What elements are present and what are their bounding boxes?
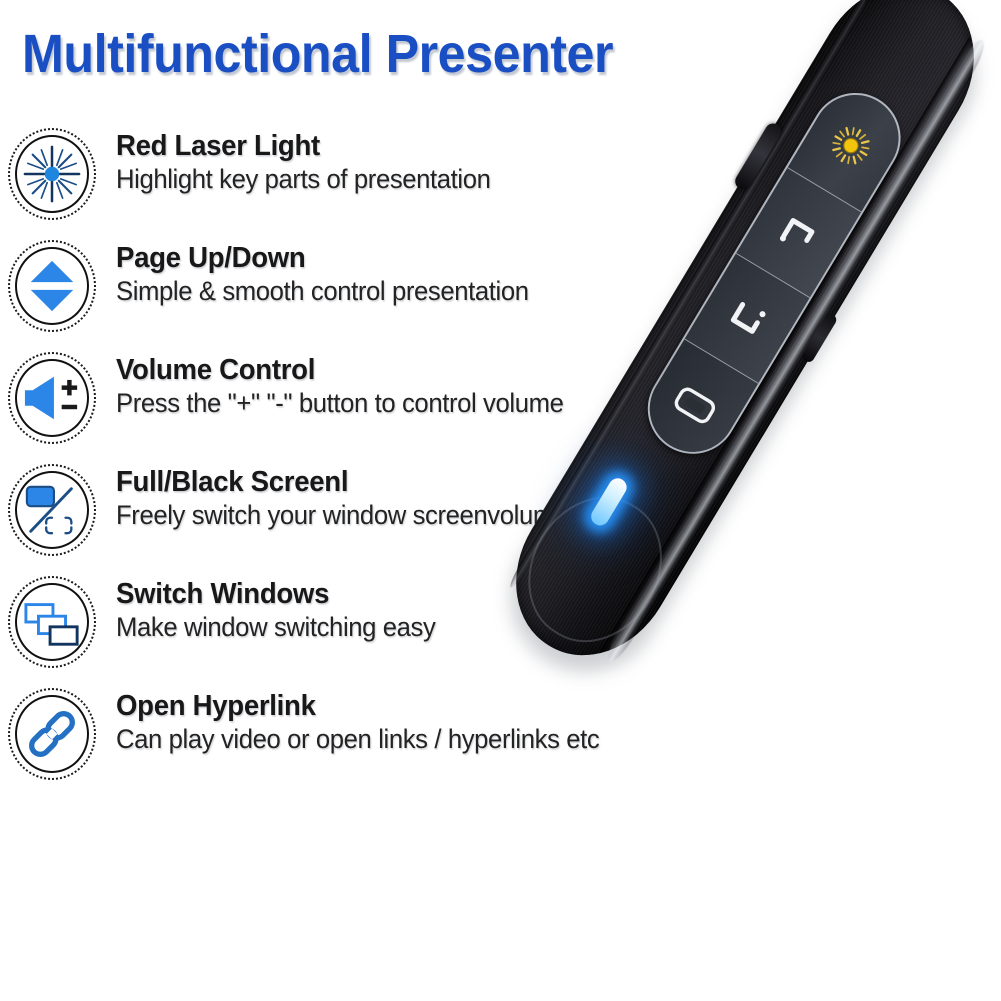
device-button-laser[interactable]	[787, 79, 914, 212]
device-button-page-down[interactable]	[684, 254, 809, 384]
feature-description: Highlight key parts of presentation	[116, 163, 652, 196]
device-side-clip	[732, 121, 784, 193]
speaker-volume-icon	[6, 350, 102, 446]
hyperlink-chain-icon	[6, 686, 102, 782]
feature-title: Red Laser Light	[116, 130, 652, 162]
page-title: Multifunctional Presenter	[22, 27, 613, 81]
feature-text-block: Red Laser Light Highlight key parts of p…	[102, 126, 680, 196]
device-side-notch	[800, 312, 838, 364]
feature-text-block: Switch Windows Make window switching eas…	[102, 574, 680, 644]
feature-description: Simple & smooth control presentation	[116, 275, 652, 308]
device-button-page-up[interactable]	[736, 168, 861, 298]
switch-windows-icon	[6, 574, 102, 670]
feature-title: Full/Black Screenl	[116, 466, 652, 498]
feature-item-volume-control: Volume Control Press the "+" "-" button …	[0, 350, 680, 446]
sun-laser-icon	[825, 119, 877, 171]
chain-link-glyph	[23, 705, 81, 763]
up-down-triangles-glyph	[23, 257, 81, 315]
feature-text-block: Open Hyperlink Can play video or open li…	[102, 686, 680, 756]
feature-item-switch-windows: Switch Windows Make window switching eas…	[0, 574, 680, 670]
feature-description: Freely switch your window screenvolume	[116, 499, 652, 532]
page-up-down-arrows-icon	[6, 238, 102, 334]
laser-starburst-icon	[6, 126, 102, 222]
feature-item-full-black-screen: Full/Black Screenl Freely switch your wi…	[0, 462, 680, 558]
feature-description: Make window switching easy	[116, 611, 652, 644]
cascading-windows-glyph	[23, 593, 81, 651]
feature-description: Press the "+" "-" button to control volu…	[116, 387, 652, 420]
feature-title: Open Hyperlink	[116, 690, 652, 722]
feature-description: Can play video or open links / hyperlink…	[116, 723, 652, 756]
speaker-plus-minus-glyph	[23, 369, 81, 427]
laser-starburst-glyph	[23, 145, 81, 203]
feature-item-red-laser-light: Red Laser Light Highlight key parts of p…	[0, 126, 680, 222]
full-black-screen-icon	[6, 462, 102, 558]
feature-title: Page Up/Down	[116, 242, 652, 274]
feature-text-block: Page Up/Down Simple & smooth control pre…	[102, 238, 680, 308]
feature-title: Volume Control	[116, 354, 652, 386]
screen-toggle-glyph	[23, 481, 81, 539]
feature-title: Switch Windows	[116, 578, 652, 610]
page-down-arrow-icon	[720, 291, 775, 346]
page-up-arrow-icon	[771, 205, 826, 260]
feature-item-page-up-down: Page Up/Down Simple & smooth control pre…	[0, 238, 680, 334]
feature-text-block: Full/Black Screenl Freely switch your wi…	[102, 462, 680, 532]
feature-text-block: Volume Control Press the "+" "-" button …	[102, 350, 680, 420]
feature-list: Red Laser Light Highlight key parts of p…	[0, 126, 680, 798]
feature-item-open-hyperlink: Open Hyperlink Can play video or open li…	[0, 686, 680, 782]
